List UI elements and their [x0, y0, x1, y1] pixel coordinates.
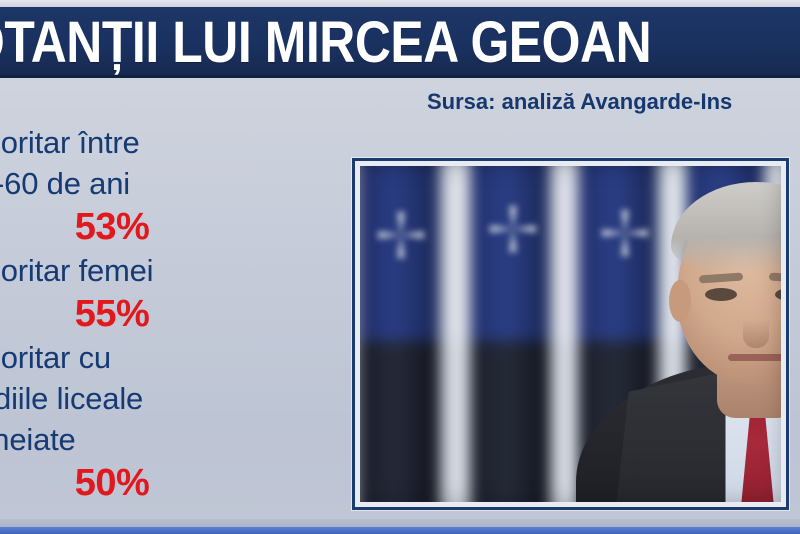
stat-item: ajoritar cu udiile liceale cheiate 50%: [0, 337, 277, 506]
eye-right: [775, 288, 782, 301]
eye-left: [705, 288, 737, 301]
photo-frame: [355, 161, 786, 507]
infographic-screen: OTANȚII LUI MIRCEA GEOAN Sursa: analiză …: [0, 0, 800, 534]
head: [677, 188, 782, 384]
title-band: OTANȚII LUI MIRCEA GEOAN: [0, 7, 800, 78]
stat-value: 53%: [0, 204, 277, 250]
mouth: [728, 354, 782, 361]
eyebrow-right: [768, 272, 781, 283]
jacket-lapel-left: [616, 372, 726, 502]
stat-value: 50%: [0, 460, 277, 506]
statistics-column: ajoritar între 5-60 de ani 53% ajoritar …: [0, 122, 277, 506]
stat-label: ajoritar femei: [0, 250, 277, 291]
compass-rose-icon: [378, 212, 424, 258]
stat-item: ajoritar femei 55%: [0, 250, 277, 337]
source-subtitle: Sursa: analiză Avangarde-Ins: [427, 89, 732, 115]
stat-label: ajoritar cu udiile liceale cheiate: [0, 337, 277, 460]
stat-item: ajoritar între 5-60 de ani 53%: [0, 122, 277, 250]
bottom-light-band: [0, 519, 800, 527]
portrait-image: [360, 166, 781, 502]
compass-rose-icon: [490, 206, 536, 252]
person-figure: [591, 172, 782, 502]
page-title: OTANȚII LUI MIRCEA GEOAN: [0, 14, 651, 72]
stat-label: ajoritar între 5-60 de ani: [0, 122, 277, 204]
hair: [671, 182, 782, 274]
top-strip: [0, 0, 800, 7]
portrait-photo-panel: [352, 158, 789, 510]
bottom-blue-band: [0, 527, 800, 534]
ear-left: [669, 280, 691, 322]
stat-value: 55%: [0, 291, 277, 337]
eyebrow-left: [698, 272, 742, 283]
nose: [743, 300, 769, 348]
